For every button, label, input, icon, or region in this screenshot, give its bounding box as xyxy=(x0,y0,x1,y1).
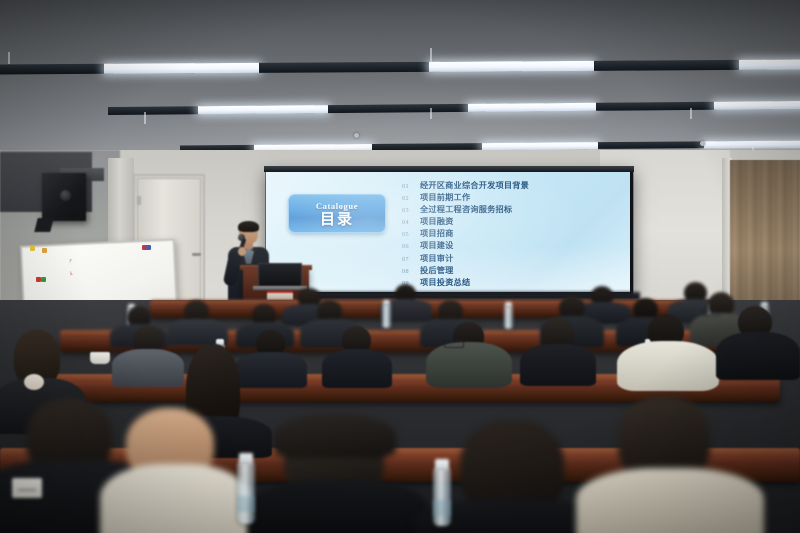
head xyxy=(460,420,564,512)
hooded-jacket xyxy=(426,342,512,388)
toc-item-number: 08 xyxy=(402,268,413,275)
presentation-slide[interactable]: Catalogue 目录 01 经开区商业综合开发项目背景 02 项目前期工作 … xyxy=(266,172,630,292)
toc-item: 07 项目审计 xyxy=(402,252,617,264)
bottle-cap xyxy=(505,302,512,307)
audience-member xyxy=(520,318,596,384)
toc-item: 08 投后管理 xyxy=(402,264,617,276)
laptop-screen[interactable] xyxy=(258,263,302,287)
shoulders xyxy=(520,344,596,386)
bottle-cap xyxy=(239,453,253,464)
presenter-hair xyxy=(238,221,259,232)
door-handle[interactable] xyxy=(192,253,201,256)
toc-item-label: 项目建设 xyxy=(420,239,454,251)
toc-item-number: 06 xyxy=(402,243,413,250)
audience-member xyxy=(716,306,800,378)
light-hanger xyxy=(430,108,432,119)
whiteboard-magnet[interactable] xyxy=(41,277,46,282)
microphone-head-icon xyxy=(238,234,245,241)
toc-item-label: 项目融资 xyxy=(420,215,454,227)
whiteboard-magnet[interactable] xyxy=(42,248,47,253)
water-bottle[interactable] xyxy=(382,304,391,328)
toc-item-number: 05 xyxy=(402,231,413,238)
audience-member-hat xyxy=(256,414,416,533)
presenter-hand xyxy=(238,247,246,256)
sprinkler-head xyxy=(700,141,705,146)
audience-member-foreground xyxy=(100,408,250,533)
shoulders xyxy=(576,468,764,533)
water-bottle[interactable] xyxy=(237,462,255,524)
hooded-jacket-light xyxy=(617,341,719,391)
shoulders xyxy=(248,480,428,533)
toc-item-number: 02 xyxy=(402,195,413,202)
whiteboard-writing xyxy=(70,257,113,275)
speaker-cone-icon xyxy=(60,190,71,201)
name-badge-text-line xyxy=(18,489,36,491)
toc-item: 06 项目建设 xyxy=(402,239,617,251)
toc-item-label: 投后管理 xyxy=(420,264,454,276)
light-hanger xyxy=(690,108,692,119)
bottle-cap xyxy=(383,300,390,305)
light-hanger xyxy=(144,112,146,124)
eyeglasses xyxy=(444,340,464,348)
toc-item: 02 项目前期工作 xyxy=(402,191,617,203)
door-hinge xyxy=(137,196,141,205)
hair-scrunchie xyxy=(24,374,44,390)
audience-member xyxy=(322,326,392,386)
toc-item-number: 04 xyxy=(402,219,413,226)
toc-item: 01 经开区商业综合开发项目背景 xyxy=(402,179,617,191)
toc-item-label: 项目审计 xyxy=(420,252,454,264)
toc-item-label: 经开区商业综合开发项目背景 xyxy=(420,179,529,191)
catalogue-badge: Catalogue 目录 xyxy=(288,194,386,233)
toc-item-number: 03 xyxy=(402,207,413,214)
audience-member xyxy=(622,314,714,388)
paper-cup[interactable] xyxy=(90,352,110,364)
bottle-label xyxy=(237,496,255,512)
shoulders xyxy=(716,332,800,380)
bottle-label xyxy=(433,500,451,516)
shoulders xyxy=(322,349,392,388)
catalogue-badge-chinese: 目录 xyxy=(320,212,354,227)
audience-member-foreground xyxy=(588,396,748,533)
sprinkler-head xyxy=(354,133,359,138)
bottle-cap xyxy=(435,459,449,470)
toc-item-label: 项目招商 xyxy=(420,227,454,239)
toc-item-label: 项目前期工作 xyxy=(420,191,470,203)
shoulders xyxy=(100,464,250,533)
slide-table-of-contents: 01 经开区商业综合开发项目背景 02 项目前期工作 03 全过程工程咨询服务招… xyxy=(402,179,617,288)
name-badge xyxy=(12,478,42,498)
toc-item-number: 07 xyxy=(402,256,413,263)
toc-item: 03 全过程工程咨询服务招标 xyxy=(402,203,617,215)
toc-item: 05 项目招商 xyxy=(402,227,617,239)
light-hanger xyxy=(8,52,10,64)
water-bottle[interactable] xyxy=(433,468,451,526)
whiteboard-magnet[interactable] xyxy=(142,245,151,250)
toc-item: 04 项目融资 xyxy=(402,215,617,227)
hat xyxy=(274,414,396,458)
audience-member xyxy=(430,322,508,386)
catalogue-badge-english: Catalogue xyxy=(316,201,358,211)
presentation-room-photo: Catalogue 目录 01 经开区商业综合开发项目背景 02 项目前期工作 … xyxy=(0,0,800,533)
toc-item-label: 全过程工程咨询服务招标 xyxy=(420,203,512,215)
whiteboard-magnet[interactable] xyxy=(30,246,35,251)
light-hanger xyxy=(430,48,432,63)
toc-item-number: 01 xyxy=(402,183,413,190)
